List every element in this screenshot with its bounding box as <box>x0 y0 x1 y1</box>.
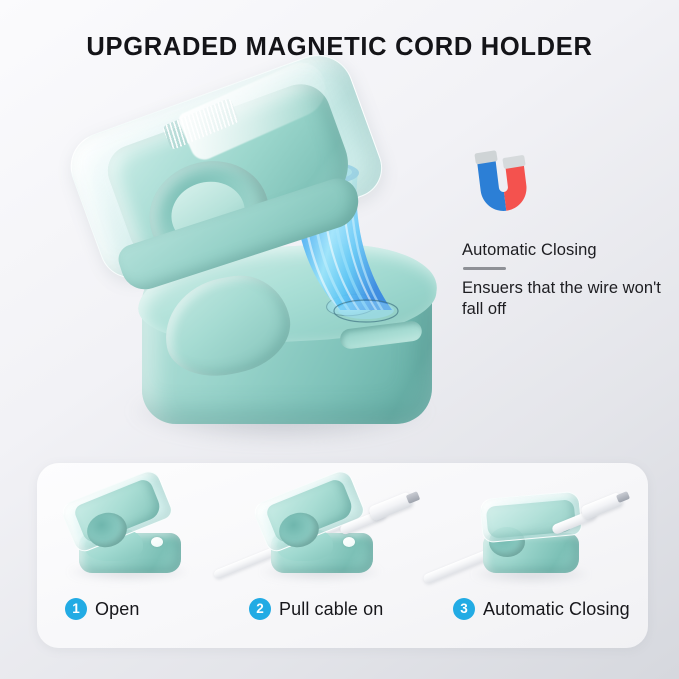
step-2-illustration <box>213 471 445 579</box>
step-1-label: 1 Open <box>65 598 139 620</box>
feature-title: Automatic Closing <box>462 240 662 260</box>
step-1-badge: 1 <box>65 598 87 620</box>
step-3-text: Automatic Closing <box>483 599 630 620</box>
step-2-badge: 2 <box>249 598 271 620</box>
steps-panel: 1 Open 2 Pull cable on <box>37 463 648 648</box>
step-item-2: 2 Pull cable on <box>213 463 445 648</box>
mini-base-port <box>151 537 163 547</box>
step-3-illustration <box>433 471 648 579</box>
step-3-badge: 3 <box>453 598 475 620</box>
step-item-1: 1 Open <box>43 463 239 648</box>
feature-callout: Automatic Closing Ensuers that the wire … <box>462 142 662 320</box>
step-1-illustration <box>43 471 239 579</box>
step-2-label: 2 Pull cable on <box>249 598 383 620</box>
mini-base-port <box>343 537 355 547</box>
step-item-3: 3 Automatic Closing <box>433 463 648 648</box>
feature-divider <box>463 267 506 269</box>
horseshoe-magnet-icon <box>466 142 540 226</box>
feature-description: Ensuers that the wire won't fall off <box>462 278 662 321</box>
step-2-text: Pull cable on <box>279 599 383 620</box>
step-3-label: 3 Automatic Closing <box>453 598 630 620</box>
hero-product-image <box>78 82 470 452</box>
step-1-text: Open <box>95 599 139 620</box>
